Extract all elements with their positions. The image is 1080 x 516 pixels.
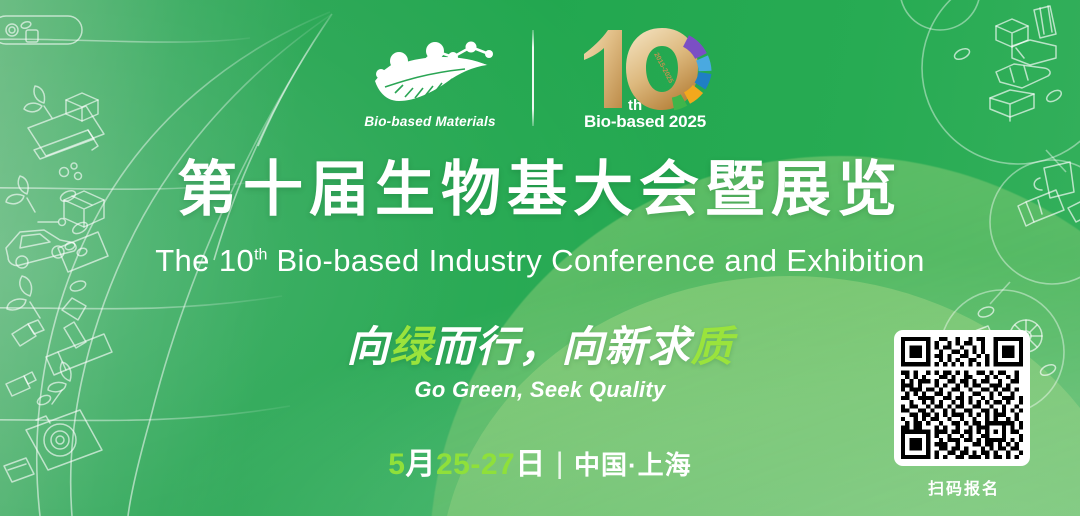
poster-canvas: Bio-based Materials <box>0 0 1080 516</box>
logo-bio-based-materials: Bio-based Materials <box>350 27 510 129</box>
registration-qr-block[interactable]: 扫码报名 <box>894 330 1034 499</box>
event-location: 中国·上海 <box>574 450 692 480</box>
qr-caption: 扫码报名 <box>894 475 1034 499</box>
logo-anniversary: 2015-2025 th Bio-based 2025 <box>560 24 730 132</box>
page-title-en: The 10th Bio-based Industry Conference a… <box>0 245 1080 276</box>
title-en-ordinal: th <box>254 247 267 264</box>
leaf-molecule-logo <box>355 27 505 113</box>
logo-divider <box>532 30 534 126</box>
slogan-highlight-1: 绿 <box>389 323 432 370</box>
event-month-char: 月 <box>405 448 436 481</box>
slogan-part-1: 向 <box>346 323 389 370</box>
logo-left-caption: Bio-based Materials <box>364 114 495 129</box>
title-en-prefix: The 10 <box>155 243 254 278</box>
logo-header: Bio-based Materials <box>0 14 1080 142</box>
registration-qr-code[interactable] <box>894 330 1030 466</box>
svg-text:2015-2025: 2015-2025 <box>652 52 674 85</box>
event-day-char: 日 <box>515 448 546 481</box>
event-separator: | <box>556 449 564 479</box>
event-month-number: 5 <box>388 448 405 481</box>
title-en-rest: Bio-based Industry Conference and Exhibi… <box>267 243 924 278</box>
anniversary-10-logo: 2015-2025 th <box>570 24 720 114</box>
logo-right-caption: Bio-based 2025 <box>584 112 706 132</box>
page-title-cn: 第十届生物基大会暨展览 <box>0 160 1080 220</box>
slogan-part-2: 而行，向新求 <box>433 323 691 370</box>
slogan-highlight-2: 质 <box>691 323 734 370</box>
event-days: 25-27 <box>436 448 515 481</box>
